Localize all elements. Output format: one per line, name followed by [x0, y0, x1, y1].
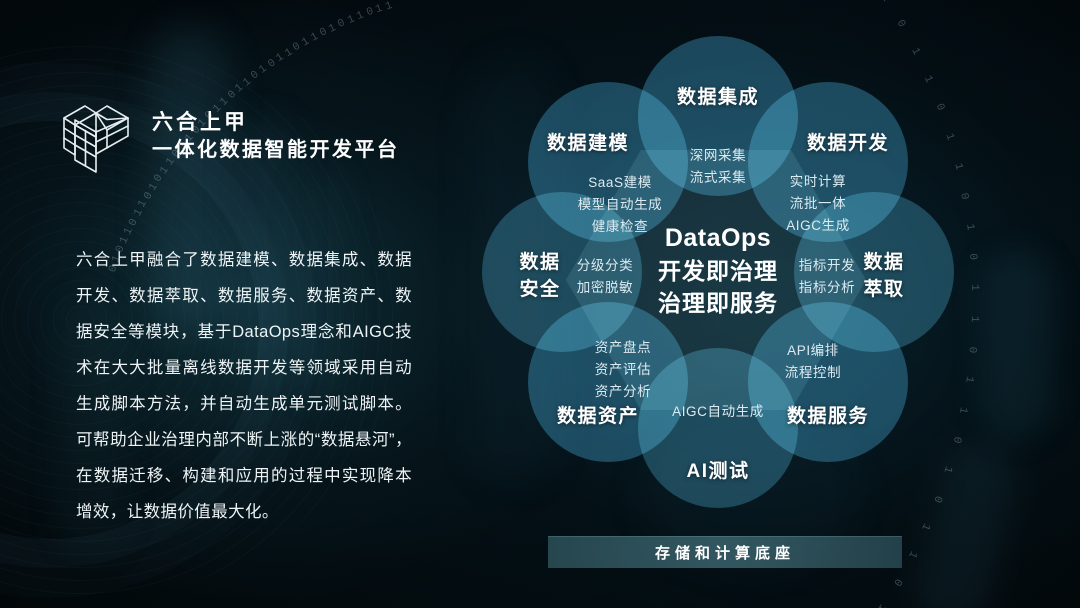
description-paragraph: 六合上甲融合了数据建模、数据集成、数据开发、数据萃取、数据服务、数据资产、数据安… — [76, 242, 412, 530]
feature-asset-2: 资产评估 — [580, 359, 666, 381]
label-data-integration: 数据集成 — [668, 82, 768, 109]
feature-asset-1: 资产盘点 — [580, 337, 666, 359]
brand-subtitle: 一体化数据智能开发平台 — [152, 140, 400, 160]
label-data-security-line1: 数据 — [510, 249, 570, 276]
label-data-asset: 数据资产 — [548, 401, 648, 428]
brick-wall-logo-icon — [58, 96, 134, 176]
center-line-2: 开发即治理 — [618, 255, 818, 287]
slide-canvas: 0101101101011011010110110101101101011011… — [0, 0, 1080, 608]
feature-development-2: 流批一体 — [773, 193, 863, 215]
label-data-security-line2: 安全 — [510, 276, 570, 303]
feature-modeling-2: 模型自动生成 — [566, 194, 674, 216]
center-line-dataops: DataOps — [618, 222, 818, 255]
storage-compute-base-bar: 存储和计算底座 — [548, 536, 902, 568]
label-data-service: 数据服务 — [778, 401, 878, 428]
feature-service-1: API编排 — [770, 340, 856, 362]
venn-diagram: 数据集成 数据开发 数据 萃取 数据服务 AI测试 数据资产 数据 安全 数据建… — [462, 22, 974, 522]
feature-integration-1: 深网采集 — [673, 145, 763, 167]
feature-aitest-1: AIGC自动生成 — [662, 401, 774, 423]
center-text-block: DataOps 开发即治理 治理即服务 — [618, 222, 818, 319]
background-smear — [980, 250, 1054, 440]
feature-modeling-1: SaaS建模 — [572, 172, 668, 194]
label-data-modeling: 数据建模 — [538, 128, 638, 155]
feature-asset-3: 资产分析 — [580, 381, 666, 403]
storage-compute-base-label: 存储和计算底座 — [655, 542, 795, 563]
label-ai-test: AI测试 — [668, 456, 768, 483]
label-data-development: 数据开发 — [798, 128, 898, 155]
feature-development-1: 实时计算 — [773, 171, 863, 193]
brand-name: 六合上甲 — [152, 112, 400, 133]
feature-integration-2: 流式采集 — [673, 167, 763, 189]
center-line-3: 治理即服务 — [618, 287, 818, 319]
feature-service-2: 流程控制 — [770, 362, 856, 384]
brand-block: 六合上甲 一体化数据智能开发平台 — [58, 96, 400, 176]
